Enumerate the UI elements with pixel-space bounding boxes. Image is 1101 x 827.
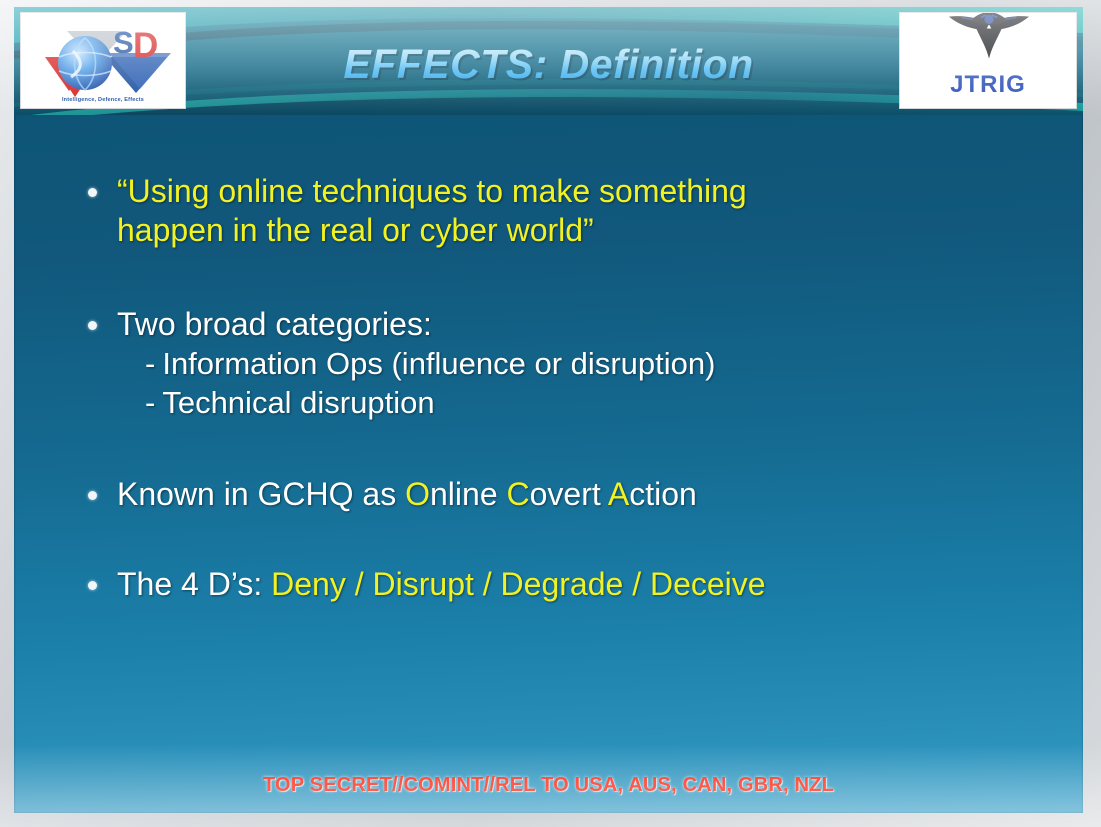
bullet-categories-label: Two broad categories: bbox=[117, 306, 432, 342]
sub-dash-icon: - bbox=[145, 346, 155, 381]
bullet-quote-line1: “Using online techniques to make somethi… bbox=[117, 173, 747, 209]
oca-initial-c: C bbox=[507, 476, 530, 512]
presentation-slide: EFFECTS: Definition EFFECTS: Definition bbox=[14, 7, 1083, 813]
bullet-dot-icon bbox=[88, 491, 97, 500]
bullet-dot-icon bbox=[88, 581, 97, 590]
sub-item-technical-disruption: -Technical disruption bbox=[145, 383, 988, 422]
sub-item-information-ops-label: Information Ops (influence or disruption… bbox=[162, 346, 715, 381]
slide-header-band: EFFECTS: Definition EFFECTS: Definition bbox=[14, 7, 1083, 115]
bullet-four-ds: The 4 D’s: Deny / Disrupt / Degrade / De… bbox=[88, 565, 988, 604]
bullet-gchq-lead: Known in GCHQ as bbox=[117, 476, 405, 512]
jtrig-logo: JTRIG bbox=[899, 12, 1077, 109]
gcsd-logo-graphic: S D bbox=[21, 13, 187, 110]
four-ds-list: Deny / Disrupt / Degrade / Deceive bbox=[271, 566, 765, 602]
slide-outer-frame: EFFECTS: Definition EFFECTS: Definition bbox=[0, 0, 1101, 827]
sub-dash-icon: - bbox=[145, 385, 155, 420]
sub-item-information-ops: -Information Ops (influence or disruptio… bbox=[145, 344, 988, 383]
bullet-gchq-term: Known in GCHQ as Online Covert Action bbox=[88, 475, 988, 514]
bullet-dot-icon bbox=[88, 321, 97, 330]
oca-initial-a: A bbox=[608, 476, 629, 512]
bullet-categories: Two broad categories: -Information Ops (… bbox=[88, 305, 988, 422]
classification-banner: TOP SECRET//COMINT//REL TO USA, AUS, CAN… bbox=[14, 774, 1083, 797]
bullet-quote-line2: happen in the real or cyber world” bbox=[117, 212, 594, 248]
four-ds-lead: The 4 D’s: bbox=[117, 566, 271, 602]
oca-initial-o: O bbox=[405, 476, 430, 512]
jtrig-eagle-icon bbox=[900, 13, 1078, 75]
bullet-dot-icon bbox=[88, 188, 97, 197]
gcsd-logo-tagline: Intelligence, Defence, Effects bbox=[21, 97, 185, 103]
svg-text:S: S bbox=[113, 25, 134, 60]
slide-content: “Using online techniques to make somethi… bbox=[14, 115, 1083, 813]
oca-word-action: ction bbox=[629, 476, 697, 512]
svg-text:D: D bbox=[133, 26, 158, 65]
oca-word-covert: overt bbox=[530, 476, 608, 512]
sub-item-technical-disruption-label: Technical disruption bbox=[162, 385, 434, 420]
gcsd-logo: S D Intelligence, Defence, Effects bbox=[20, 12, 186, 109]
oca-word-online: nline bbox=[430, 476, 507, 512]
jtrig-wordmark: JTRIG bbox=[900, 71, 1076, 99]
bullet-quote: “Using online techniques to make somethi… bbox=[88, 172, 988, 250]
